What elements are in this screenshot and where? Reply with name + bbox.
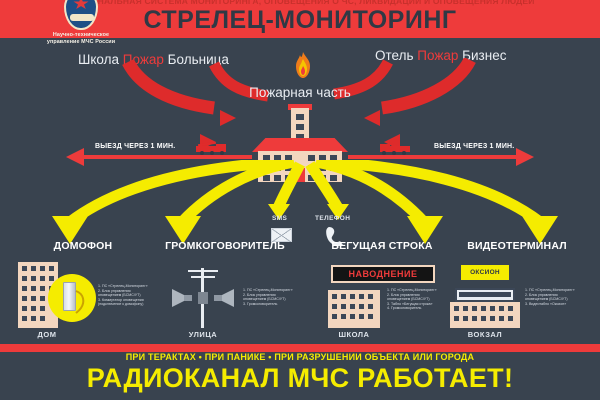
- footer-red-strip: [0, 344, 600, 352]
- footer-label-home: ДОМ: [22, 330, 72, 339]
- sms-label: SMS: [272, 215, 287, 222]
- station-title: Пожарная часть: [0, 85, 600, 100]
- fire-truck-icon-left: [196, 142, 228, 155]
- emblem-line-1: Научно-техническое: [22, 32, 140, 39]
- oksion-badge-label: ОКСИОН: [470, 269, 500, 276]
- ticker-message: НАВОДНЕНИЕ: [348, 269, 417, 279]
- column-intercom: ДОМОФОН: [8, 240, 158, 252]
- column-ticker: БЕГУЩАЯ СТРОКА: [312, 240, 452, 252]
- dispatch-label-left: ВЫЕЗД ЧЕРЕЗ 1 МИН.: [95, 143, 175, 150]
- steps-ticker: 1. ПС «Стрелец-Мониторинг» 2. Блок управ…: [387, 288, 437, 311]
- steps-video-terminal: 1. ПС «Стрелец-Мониторинг» 2. Блок управ…: [525, 288, 575, 306]
- footer-headline: РАДИОКАНАЛ МЧС РАБОТАЕТ!: [0, 363, 600, 394]
- phone-label: ТЕЛЕФОН: [315, 215, 350, 222]
- footer-label-school: ШКОЛА: [326, 330, 382, 339]
- column-title-video-terminal: ВИДЕОТЕРМИНАЛ: [442, 240, 592, 252]
- emblem-block: Научно-техническое управление МЧС России: [22, 0, 140, 46]
- poster-canvas: НАЦИОНАЛЬНАЯ СИСТЕМА МОНИТОРИНГА, ОПОВЕЩ…: [0, 0, 600, 400]
- steps-intercom: 1. ПС «Стрелец-Мониторинг» 2. Блок управ…: [98, 284, 148, 307]
- emblem-line-2: управление МЧС России: [22, 39, 140, 46]
- horn-pair-icon: [172, 286, 234, 310]
- steps-loudspeaker: 1. ПС «Стрелец-Мониторинг» 2. Блок управ…: [243, 288, 293, 306]
- dispatch-label-right: ВЫЕЗД ЧЕРЕЗ 1 МИН.: [434, 143, 514, 150]
- column-title-ticker: БЕГУЩАЯ СТРОКА: [312, 240, 452, 252]
- dispatch-line-left: [84, 155, 252, 159]
- fire-truck-icon-right: [378, 142, 410, 155]
- column-title-intercom: ДОМОФОН: [8, 240, 158, 252]
- dispatch-line-right: [348, 155, 516, 159]
- footer-subline: ПРИ ТЕРАКТАХ • ПРИ ПАНИКЕ • ПРИ РАЗРУШЕН…: [0, 352, 600, 362]
- oksion-badge: ОКСИОН: [461, 265, 509, 280]
- column-title-loudspeaker: ГРОМКОГОВОРИТЕЛЬ: [140, 240, 310, 252]
- footer-label-street: УЛИЦА: [175, 330, 231, 339]
- led-ticker-icon: НАВОДНЕНИЕ: [331, 265, 435, 283]
- footer-label-station: ВОКЗАЛ: [457, 330, 513, 339]
- station-roof: [252, 138, 348, 152]
- footer-banner: ПРИ ТЕРАКТАХ • ПРИ ПАНИКЕ • ПРИ РАЗРУШЕН…: [0, 352, 600, 400]
- column-video-terminal: ВИДЕОТЕРМИНАЛ: [442, 240, 592, 252]
- mchs-emblem-icon: [64, 0, 98, 30]
- intercom-cord-icon: [74, 290, 86, 314]
- column-loudspeaker: ГРОМКОГОВОРИТЕЛЬ: [140, 240, 310, 252]
